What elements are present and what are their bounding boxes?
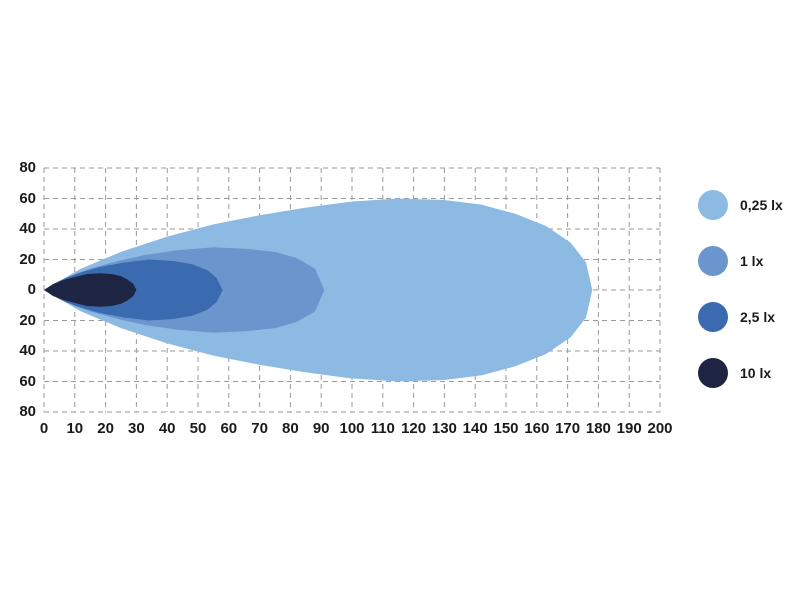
y-axis-tick-label: 0 [8,281,36,298]
legend-item: 10 lx [698,354,798,392]
legend-color-swatch [698,190,728,220]
legend-item: 1 lx [698,242,798,280]
light-cone-area [44,273,136,307]
legend-item-label: 10 lx [740,365,771,381]
y-axis-tick-label: 80 [8,159,36,176]
light-cone-areas [44,199,592,382]
y-axis-tick-label: 60 [8,190,36,207]
legend: 0,25 lx1 lx2,5 lx10 lx [698,186,798,410]
legend-item-label: 2,5 lx [740,309,775,325]
y-axis-tick-label: 40 [8,342,36,359]
light-distribution-chart: 80604020020406080 0102030405060708090100… [0,0,800,600]
y-axis-tick-label: 80 [8,403,36,420]
y-axis-tick-label: 40 [8,220,36,237]
y-axis-tick-label: 20 [8,251,36,268]
legend-color-swatch [698,246,728,276]
legend-item-label: 0,25 lx [740,197,783,213]
x-axis-tick-label: 200 [640,420,680,437]
legend-color-swatch [698,358,728,388]
plot-area [0,0,800,600]
legend-item: 2,5 lx [698,298,798,336]
legend-item: 0,25 lx [698,186,798,224]
legend-color-swatch [698,302,728,332]
legend-item-label: 1 lx [740,253,763,269]
y-axis-tick-label: 60 [8,373,36,390]
y-axis-tick-label: 20 [8,312,36,329]
